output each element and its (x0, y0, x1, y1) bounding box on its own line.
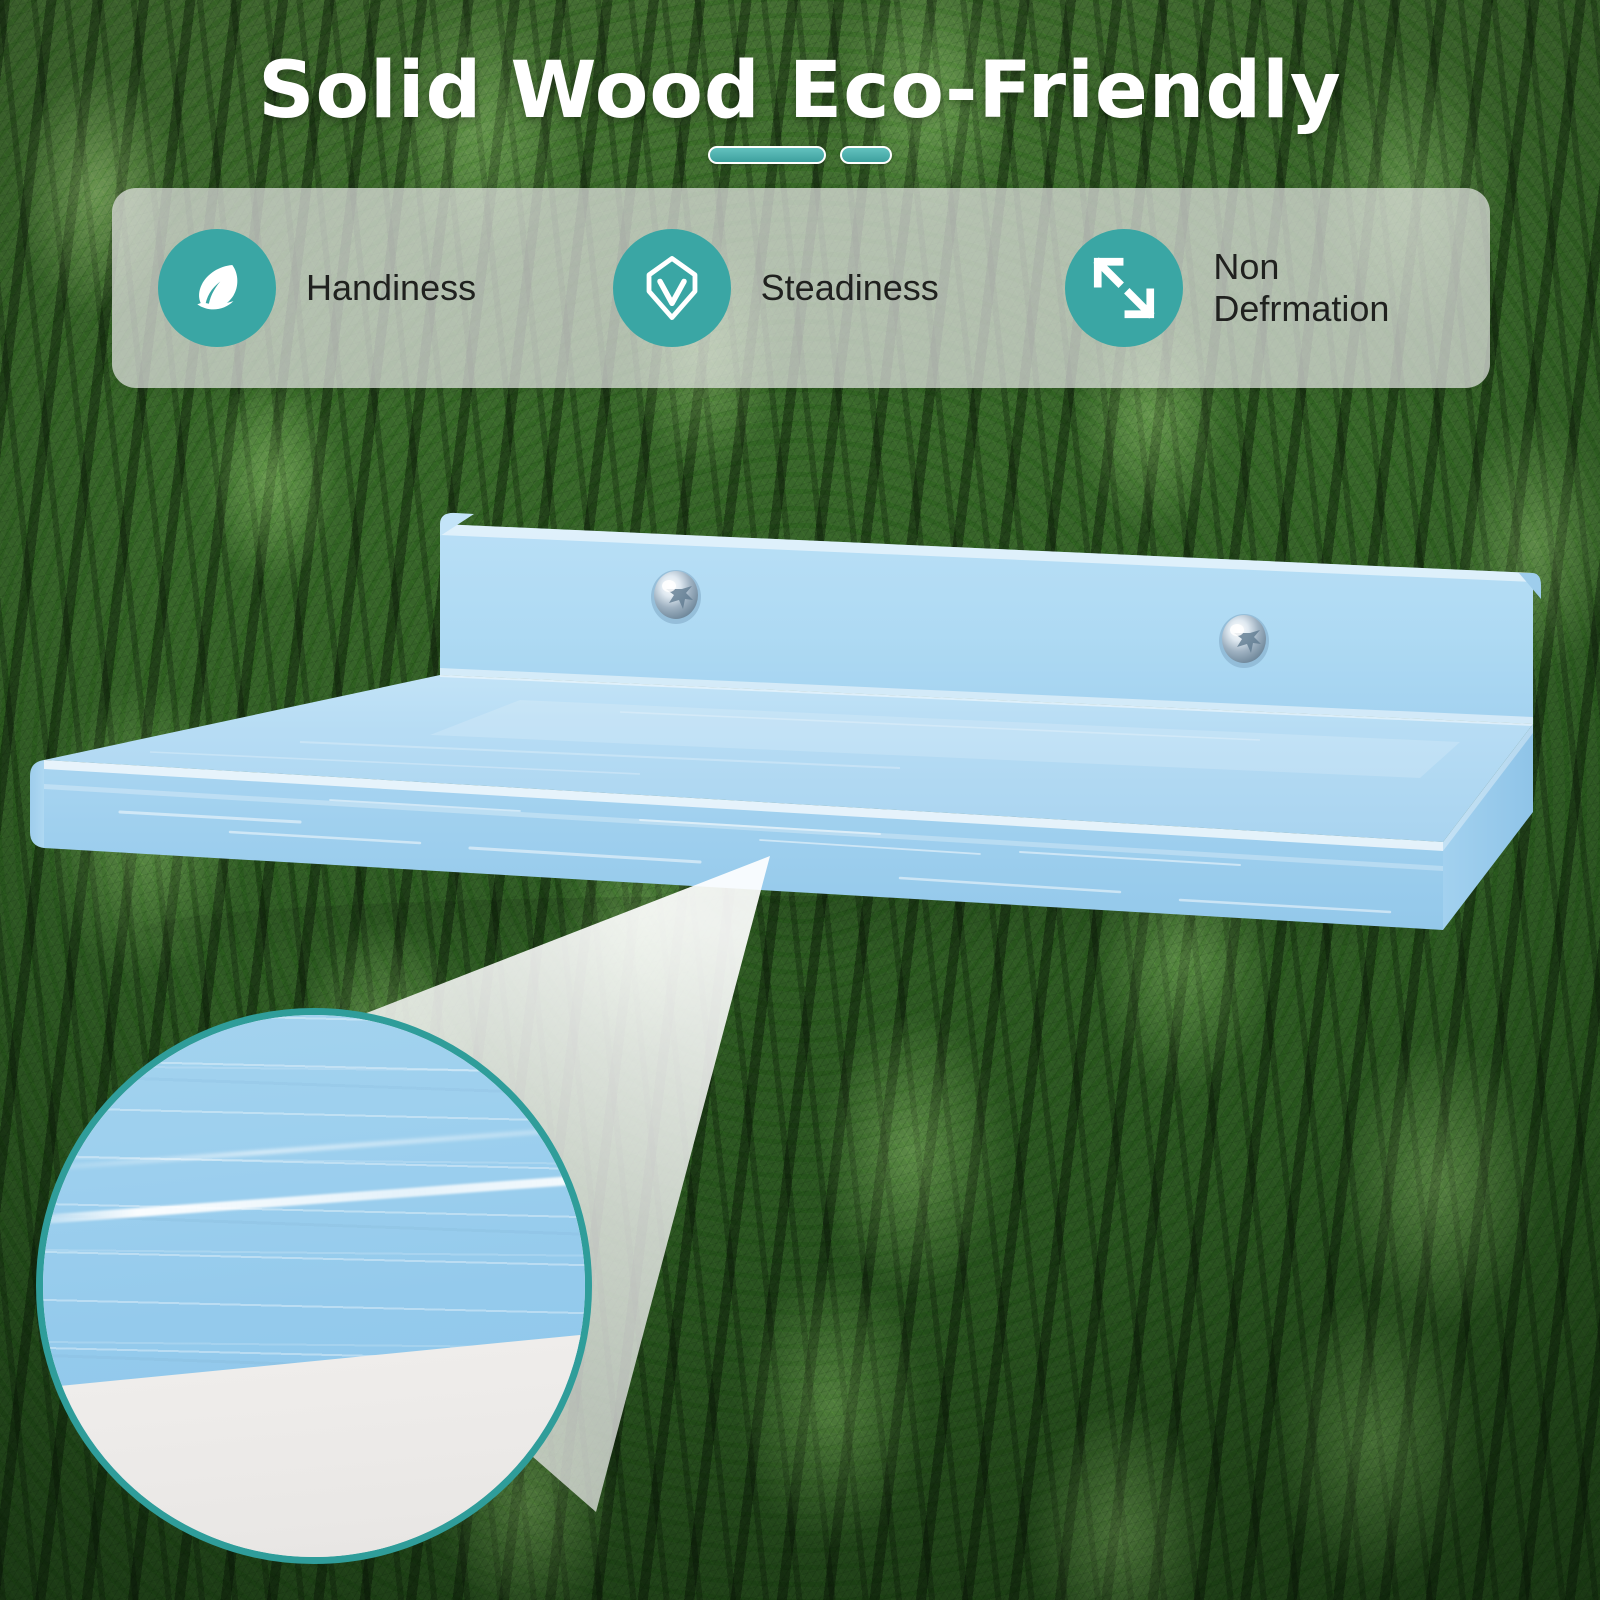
feature-item-non-deformation: Non Defrmation (1037, 229, 1490, 347)
magnified-edge-detail (36, 1008, 592, 1564)
feature-label-steadiness: Steadiness (761, 267, 939, 309)
title-divider (0, 146, 1600, 164)
divider-pill-short (840, 146, 892, 164)
product-marketing-image: Solid Wood Eco-Friendly Handiness Steadi (0, 0, 1600, 1600)
feature-label-handiness: Handiness (306, 267, 476, 309)
feature-label-non-deformation: Non Defrmation (1213, 246, 1389, 330)
feature-item-steadiness: Steadiness (583, 229, 1038, 347)
feature-item-handiness: Handiness (112, 229, 583, 347)
divider-pill-long (708, 146, 826, 164)
expand-arrows-icon (1065, 229, 1183, 347)
diamond-icon (613, 229, 731, 347)
feather-icon (158, 229, 276, 347)
page-title: Solid Wood Eco-Friendly (0, 46, 1600, 136)
feature-bar: Handiness Steadiness Non (112, 188, 1490, 388)
